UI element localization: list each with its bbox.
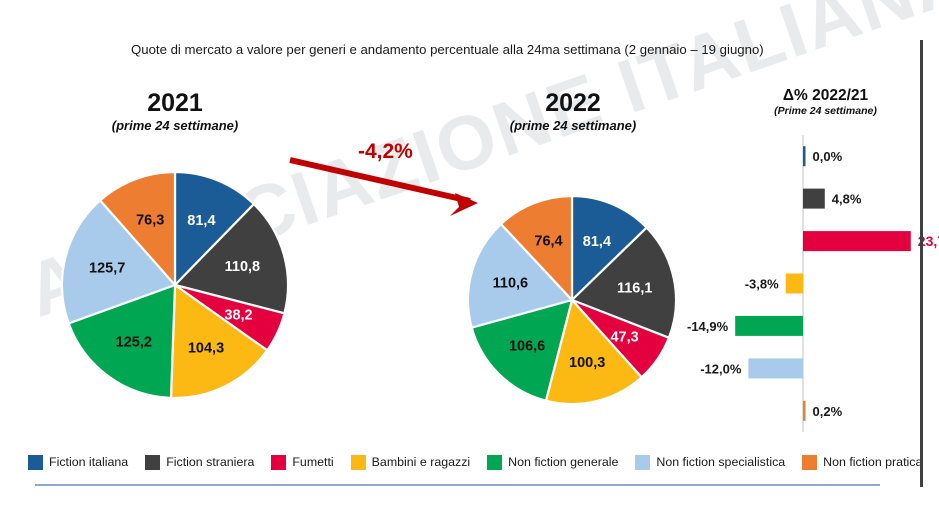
pie-2021-slice-value: 76,3 (136, 213, 164, 229)
pie-2021-slice-value: 38,2 (224, 308, 252, 324)
legend-label: Fumetti (292, 455, 333, 469)
legend-item: Non fiction specialistica (635, 455, 785, 470)
legend-swatch-icon (145, 455, 160, 470)
delta-bar-label: -3,8% (745, 277, 779, 292)
pie-2021-slice-value: 125,7 (89, 261, 125, 277)
charts-layer: 81,4110,838,2104,3125,2125,776,3 81,4116… (0, 0, 939, 528)
delta-bar-label: 4,8% (832, 192, 862, 207)
pie-2021-slice-value: 125,2 (116, 335, 152, 351)
legend-swatch-icon (635, 455, 650, 470)
legend-label: Fiction straniera (166, 455, 254, 469)
page-title: Quote di mercato a valore per generi e a… (131, 42, 764, 57)
pie-2022-slice-value: 76,4 (534, 234, 562, 250)
panel-title-delta: Δ% 2022/21 (738, 88, 913, 104)
pie-2021-slice-value: 104,3 (188, 341, 224, 357)
delta-bar (803, 146, 806, 166)
delta-bar (786, 274, 803, 294)
panel-header-2022: 2022 (prime 24 settimane) (468, 90, 678, 133)
legend-label: Bambini e ragazzi (372, 455, 470, 469)
legend-item: Non fiction pratica (802, 455, 922, 470)
legend-swatch-icon (487, 455, 502, 470)
pie-2021-slice-value: 81,4 (187, 213, 215, 229)
legend-item: Fumetti (271, 455, 333, 470)
delta-bar (803, 231, 911, 251)
legend-item: Fiction italiana (28, 455, 128, 470)
delta-bar (735, 316, 803, 336)
legend-swatch-icon (802, 455, 817, 470)
panel-subtitle-delta: (Prime 24 settimane) (738, 105, 913, 117)
legend-swatch-icon (351, 455, 366, 470)
pie-2022-slice-value: 47,3 (610, 329, 638, 345)
legend-label: Fiction italiana (49, 455, 128, 469)
delta-bar-label: 0,0% (813, 149, 843, 164)
legend-label: Non fiction specialistica (656, 455, 785, 469)
pie-chart-2022: 81,4116,147,3100,3106,6110,676,4 (468, 196, 676, 404)
panel-subtitle-2022: (prime 24 settimane) (468, 118, 678, 133)
pie-2022-slice-value: 116,1 (617, 280, 653, 296)
delta-bar-label: -14,9% (687, 319, 729, 334)
pie-2022-slice-value: 110,6 (493, 276, 529, 292)
legend-label: Non fiction pratica (823, 455, 922, 469)
panel-header-delta: Δ% 2022/21 (Prime 24 settimane) (738, 88, 913, 117)
pie-2022-slice-value: 106,6 (509, 339, 545, 355)
legend-item: Bambini e ragazzi (351, 455, 470, 470)
legend-swatch-icon (28, 455, 43, 470)
pie-chart-2021: 81,4110,838,2104,3125,2125,776,3 (62, 172, 288, 398)
arrow-change-label: -4,2% (358, 140, 413, 164)
delta-bar-label: -12,0% (700, 361, 742, 376)
pie-2022-slice-value: 81,4 (583, 234, 611, 250)
legend-item: Fiction straniera (145, 455, 254, 470)
legend-swatch-icon (271, 455, 286, 470)
delta-bar (748, 358, 803, 378)
pie-2021-slice-value: 110,8 (225, 259, 261, 275)
pie-2022-slice-value: 100,3 (569, 355, 605, 371)
legend: Fiction italianaFiction stranieraFumetti… (28, 452, 908, 472)
panel-header-2021: 2021 (prime 24 settimane) (70, 90, 280, 133)
right-divider (920, 40, 923, 487)
trend-arrow (290, 160, 478, 216)
legend-label: Non fiction generale (508, 455, 618, 469)
panel-year-2022: 2022 (468, 90, 678, 116)
arrow-shaft (290, 160, 470, 201)
panel-year-2021: 2021 (70, 90, 280, 116)
delta-bar-chart: 0,0%4,8%23,7%-3,8%-14,9%-12,0%0,2% (687, 135, 939, 432)
delta-bar (803, 401, 806, 421)
delta-bar-label: 0,2% (813, 404, 843, 419)
panel-subtitle-2021: (prime 24 settimane) (70, 118, 280, 133)
legend-item: Non fiction generale (487, 455, 618, 470)
slide-canvas: ASSOCIAZIONE ITALIANA EDITORI Quote di m… (0, 0, 939, 528)
delta-bar (803, 189, 825, 209)
bottom-divider (35, 484, 880, 486)
